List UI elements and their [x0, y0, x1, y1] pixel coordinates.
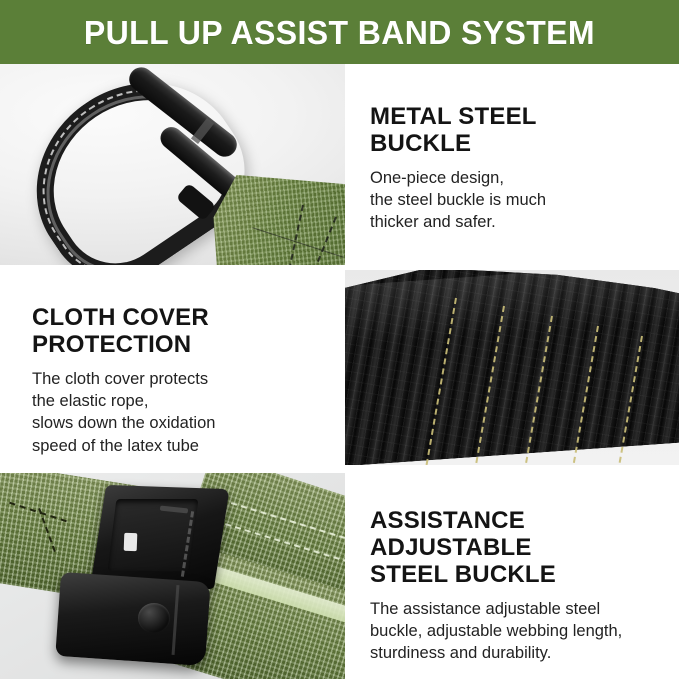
cloth-cover-protection-heading: CLOTH COVER PROTECTION: [32, 305, 332, 359]
cord-cloth-cover: [345, 270, 679, 465]
assistance-buckle-heading: ASSISTANCE ADJUSTABLE STEEL BUCKLE: [370, 508, 670, 589]
product-infographic-poster: PULL UP ASSIST BAND SYSTEM METAL STEEL B…: [0, 0, 679, 679]
page-title: PULL UP ASSIST BAND SYSTEM: [84, 16, 595, 49]
assistance-buckle-text-block: ASSISTANCE ADJUSTABLE STEEL BUCKLE The a…: [370, 508, 670, 664]
cord-highlight: [345, 270, 679, 348]
adjustable-buckle-knob: [138, 603, 170, 633]
adjustable-buckle-tab: [124, 533, 138, 551]
metal-steel-buckle-description: One-piece design, the steel buckle is mu…: [370, 167, 670, 234]
cloth-cover-protection-text-block: CLOTH COVER PROTECTION The cloth cover p…: [32, 305, 332, 457]
carabiner-photo: [0, 64, 345, 265]
black-cord-photo: [345, 270, 679, 465]
assistance-buckle-description: The assistance adjustable steel buckle, …: [370, 598, 670, 665]
metal-steel-buckle-heading: METAL STEEL BUCKLE: [370, 104, 670, 158]
header-banner: PULL UP ASSIST BAND SYSTEM: [0, 0, 679, 64]
green-webbing-buckle-photo: [0, 473, 345, 679]
adjustable-buckle-base: [55, 572, 210, 666]
metal-steel-buckle-text-block: METAL STEEL BUCKLE One-piece design, the…: [370, 104, 670, 234]
cloth-cover-protection-description: The cloth cover protects the elastic rop…: [32, 368, 332, 457]
cord-weave-texture: [345, 270, 679, 465]
